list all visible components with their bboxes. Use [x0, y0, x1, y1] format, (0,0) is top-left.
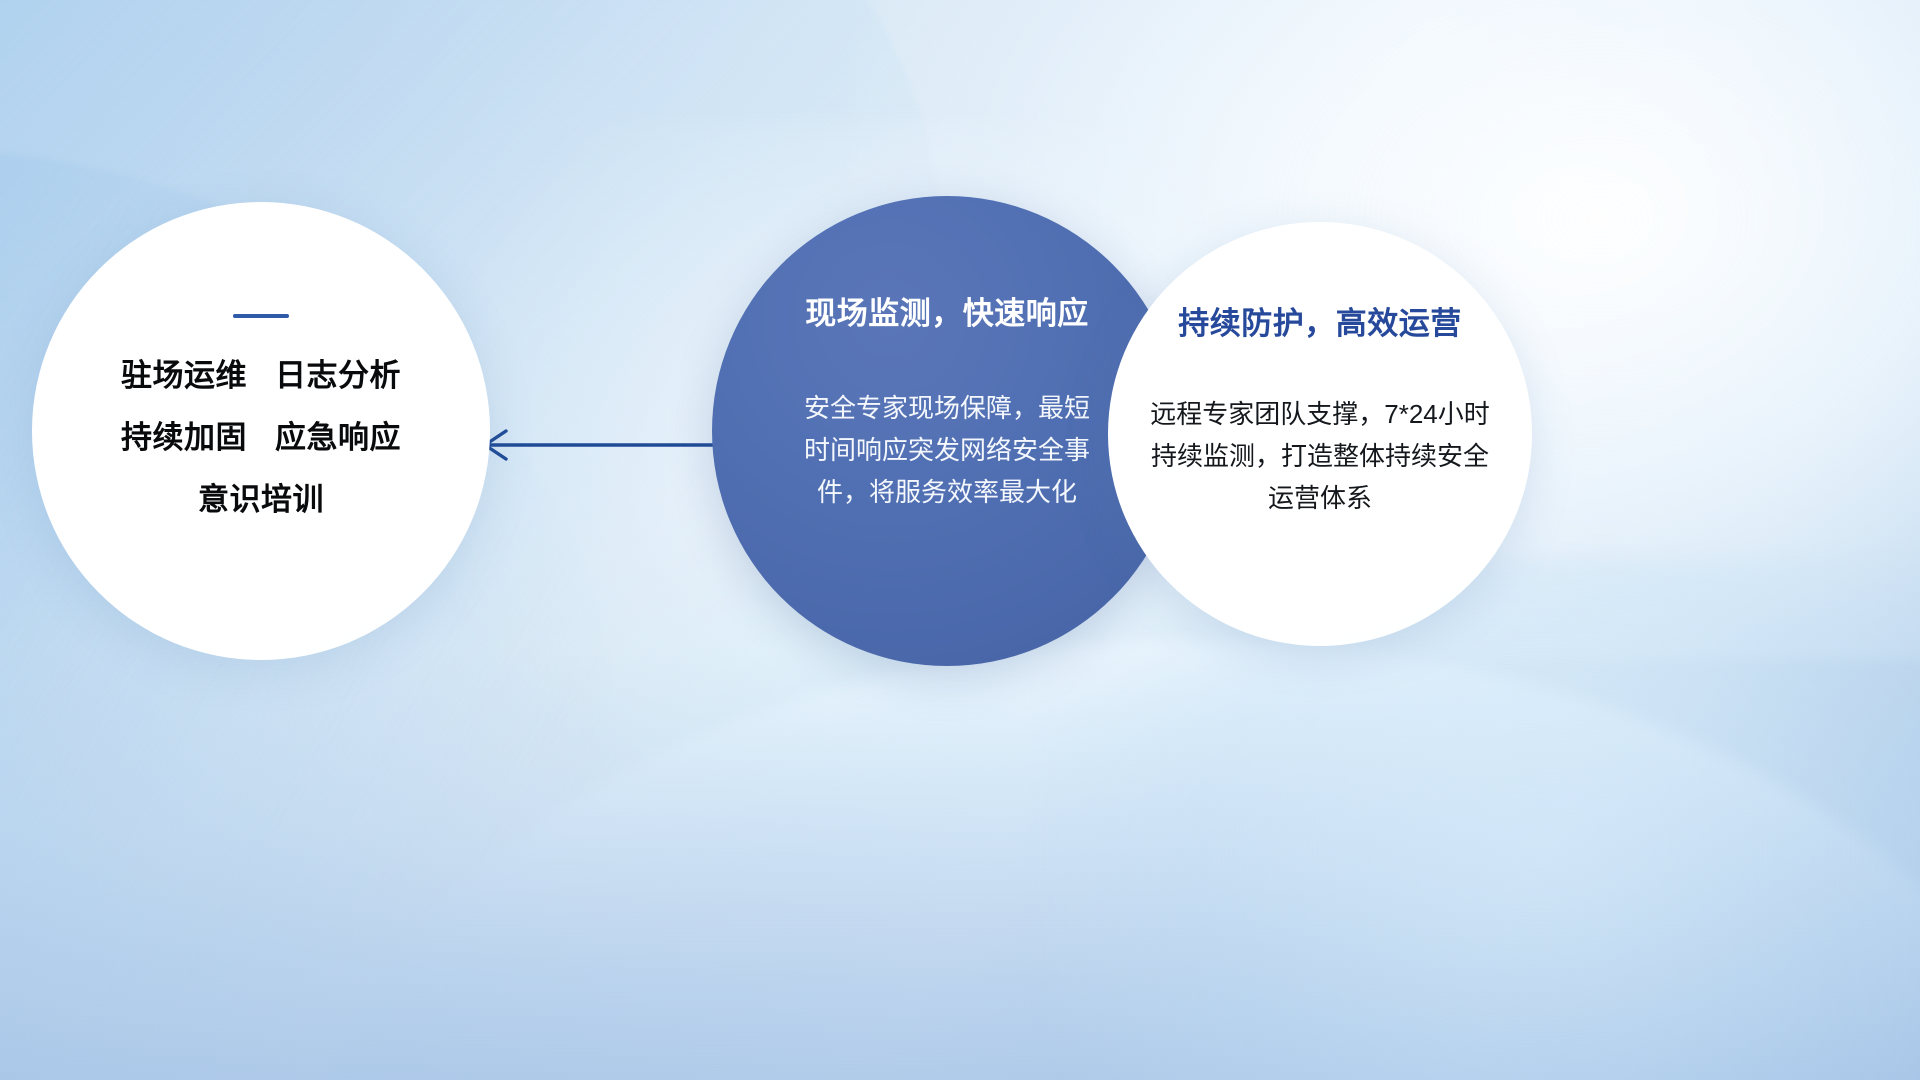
background-glow-bottom-right [1040, 560, 1920, 1080]
skill-row: 持续加固 应急响应 [121, 422, 401, 453]
remote-circle-title: 持续防护，高效运营 [1178, 298, 1462, 343]
title-divider [233, 314, 289, 318]
remote-operations-circle[interactable]: 持续防护，高效运营 远程专家团队支撑，7*24小时持续监测，打造整体持续安全运营… [1108, 222, 1532, 646]
skill-label-log-analysis: 日志分析 [275, 360, 401, 391]
skill-row: 意识培训 [198, 484, 324, 515]
onsite-circle-body: 安全专家现场保障，最短时间响应突发网络安全事件，将服务效率最大化 [797, 387, 1097, 513]
slide-canvas: 驻场运维 日志分析 持续加固 应急响应 意识培训 现场监测，快速响应 安全专家现… [0, 0, 1920, 1080]
skill-label-emergency-response: 应急响应 [275, 422, 401, 453]
remote-circle-body: 远程专家团队支撑，7*24小时持续监测，打造整体持续安全运营体系 [1142, 393, 1498, 519]
skill-label-awareness-training: 意识培训 [198, 484, 324, 515]
skill-label-onsite-ops: 驻场运维 [121, 360, 247, 391]
onsite-circle-title: 现场监测，快速响应 [805, 288, 1089, 333]
skills-circle[interactable]: 驻场运维 日志分析 持续加固 应急响应 意识培训 [32, 202, 490, 660]
skill-label-continuous-hardening: 持续加固 [121, 422, 247, 453]
skill-row: 驻场运维 日志分析 [121, 360, 401, 391]
